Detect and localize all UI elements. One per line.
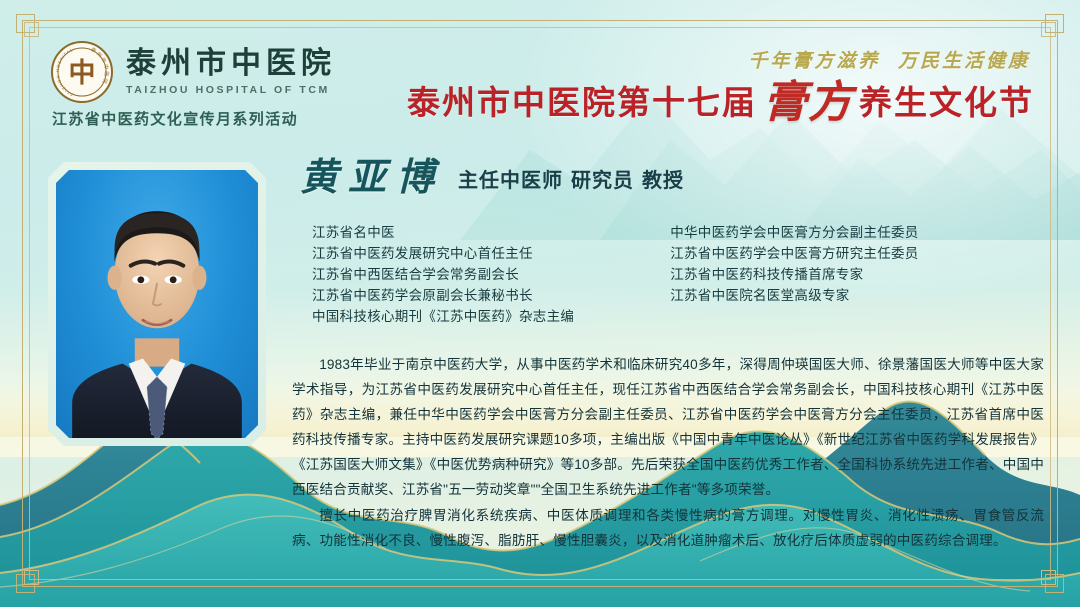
biography-paragraph: 擅长中医药治疗脾胃消化系统疾病、中医体质调理和各类慢性病的膏方调理。对慢性胃炎、…	[292, 503, 1044, 553]
credentials-column-left: 江苏省名中医 江苏省中医药发展研究中心首任主任 江苏省中西医结合学会常务副会长 …	[312, 222, 574, 327]
poster-canvas: 中 泰州市中医院 TAIZHOU HOSPITAL 泰州市中医院 TAIZHOU…	[0, 0, 1080, 607]
campaign-subtitle: 江苏省中医药文化宣传月系列活动	[52, 108, 298, 129]
festival-title-main: 泰州市中医院第十七届 膏方 养生文化节	[407, 78, 1034, 122]
hospital-name-cn: 泰州市中医院	[126, 49, 336, 79]
svg-text:中: 中	[69, 58, 96, 89]
festival-title-prefix: 泰州市中医院第十七届	[407, 86, 757, 119]
poster-header: 中 泰州市中医院 TAIZHOU HOSPITAL 泰州市中医院 TAIZHOU…	[0, 0, 1080, 140]
credential-item: 江苏省中西医结合学会常务副会长	[312, 264, 574, 285]
credentials-column-right: 中华中医药学会中医膏方分会副主任委员 江苏省中医药学会中医膏方研究主任委员 江苏…	[670, 222, 918, 327]
credential-item: 中国科技核心期刊《江苏中医药》杂志主编	[312, 306, 574, 327]
biography-paragraph: 1983年毕业于南京中医药大学，从事中医药学术和临床研究40多年，深得周仲瑛国医…	[292, 352, 1044, 502]
hospital-brand: 中 泰州市中医院 TAIZHOU HOSPITAL 泰州市中医院 TAIZHOU…	[50, 40, 336, 104]
festival-title-script: 膏方	[763, 81, 853, 125]
tagline-left: 千年膏方滋养	[748, 50, 880, 72]
credential-item: 江苏省中医药学会中医膏方研究主任委员	[670, 243, 918, 264]
festival-tagline: 千年膏方滋养 万民生活健康	[407, 52, 1034, 71]
person-header: 黄亚博 主任中医师 研究员 教授	[300, 158, 684, 196]
portrait-photo	[56, 170, 258, 438]
person-name: 黄亚博	[300, 158, 444, 196]
person-role: 主任中医师 研究员 教授	[458, 164, 684, 193]
credentials-section: 江苏省名中医 江苏省中医药发展研究中心首任主任 江苏省中西医结合学会常务副会长 …	[312, 222, 1036, 327]
frame-corner-bottom-left-inner	[24, 570, 39, 585]
hospital-name-en: TAIZHOU HOSPITAL OF TCM	[126, 84, 336, 96]
credential-item: 江苏省中医药发展研究中心首任主任	[312, 243, 574, 264]
credential-item: 江苏省中医药学会原副会长兼秘书长	[312, 285, 574, 306]
festival-title-suffix: 养生文化节	[859, 86, 1034, 119]
credential-item: 江苏省名中医	[312, 222, 574, 243]
credential-item: 江苏省中医院名医堂高级专家	[670, 285, 918, 306]
biography-section: 1983年毕业于南京中医药大学，从事中医药学术和临床研究40多年，深得周仲瑛国医…	[292, 352, 1044, 553]
credential-item: 江苏省中医药科技传播首席专家	[670, 264, 918, 285]
tagline-right: 万民生活健康	[898, 50, 1030, 72]
portrait-frame	[48, 162, 266, 446]
frame-corner-bottom-right-inner	[1041, 570, 1056, 585]
festival-title-block: 千年膏方滋养 万民生活健康 泰州市中医院第十七届 膏方 养生文化节	[407, 52, 1034, 122]
credential-item: 中华中医药学会中医膏方分会副主任委员	[670, 222, 918, 243]
tcm-hospital-seal-icon: 中 泰州市中医院 TAIZHOU HOSPITAL	[50, 40, 114, 104]
